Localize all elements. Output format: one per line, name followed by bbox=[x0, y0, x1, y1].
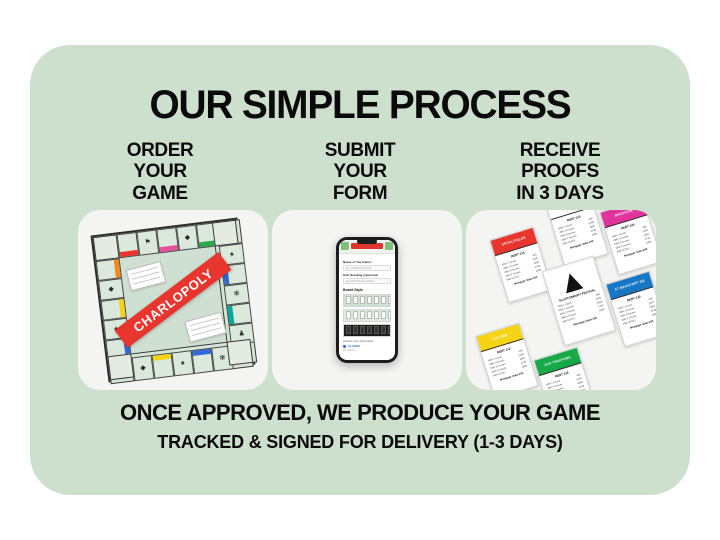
game-name-input[interactable]: Eg. LINWOODOPOLY bbox=[343, 265, 391, 271]
sub-heading-input[interactable]: Eg. 30th Birthday Edition bbox=[343, 278, 391, 284]
board-style-option-3[interactable] bbox=[343, 324, 391, 337]
rent-value: £900 bbox=[580, 388, 586, 390]
board-corner-bl bbox=[107, 353, 134, 380]
rent-value: £900 bbox=[592, 232, 598, 236]
title-deed-collage: THE MALLRENT £10With 1 House£60With 2 Ho… bbox=[466, 210, 656, 390]
board-corner-tl bbox=[93, 234, 120, 261]
deed-name: SPITALFIELDS bbox=[501, 236, 526, 247]
decor-right-icon bbox=[385, 242, 393, 250]
property-colour-strip bbox=[153, 354, 171, 361]
board-space-icon: ◆ bbox=[108, 286, 114, 294]
title-deed-card: ST BEAUFORT SQRENT £16With 1 House£60Wit… bbox=[605, 271, 656, 348]
step-headings: ORDER YOUR GAME SUBMIT YOUR FORM RECEIVE… bbox=[30, 140, 690, 210]
rent-value: £900 bbox=[652, 312, 656, 316]
tent-icon bbox=[561, 270, 585, 293]
step-heading-receive: RECEIVE PROOFS IN 3 DAYS bbox=[465, 140, 655, 204]
footer-line-1: ONCE APPROVED, WE PRODUCE YOUR GAME bbox=[30, 400, 690, 426]
board-space-icon: ⚑ bbox=[144, 239, 151, 247]
board-style-heading: Board Style bbox=[343, 288, 391, 292]
style-radio-classic[interactable]: CLASSIC bbox=[343, 344, 391, 348]
title-deed-card: GLASTONBURY FESTIVALWith 1 House£60With … bbox=[542, 256, 616, 346]
step-heading-order: ORDER YOUR GAME bbox=[65, 140, 255, 204]
phone-screen: Name of the Game* Eg. LINWOODOPOLY Sub H… bbox=[339, 240, 395, 360]
property-colour-strip bbox=[159, 245, 177, 252]
property-colour-strip bbox=[120, 250, 138, 257]
radio-dot-icon bbox=[343, 345, 346, 348]
chance-card bbox=[126, 261, 166, 292]
footer-line-2: TRACKED & SIGNED FOR DELIVERY (1-3 DAYS) bbox=[30, 432, 690, 453]
board-style-option-1[interactable] bbox=[343, 294, 391, 307]
deed-name: ICELAND bbox=[492, 334, 508, 342]
deed-name: OLD TRAFFORD bbox=[544, 356, 571, 367]
page-title: OUR SIMPLE PROCESS bbox=[40, 85, 680, 125]
property-colour-strip bbox=[114, 259, 121, 277]
property-colour-strip bbox=[119, 299, 126, 317]
board-space-icon: ◆ bbox=[140, 364, 146, 372]
game-board: ◆♠⚑◆♠✻◆♠✻♟ CHARLOPOLY bbox=[91, 218, 256, 383]
title-deed-card: THE MALLRENT £10With 1 House£60With 2 Ho… bbox=[545, 210, 608, 267]
rent-value: £900 bbox=[536, 268, 542, 272]
green-panel: OUR SIMPLE PROCESS ORDER YOUR GAME SUBMI… bbox=[30, 45, 690, 495]
order-form: Name of the Game* Eg. LINWOODOPOLY Sub H… bbox=[339, 254, 395, 352]
board-space-icon: ♠ bbox=[181, 360, 186, 367]
deed-name: ST BEAUFORT SQ bbox=[615, 279, 646, 291]
board-space-icon: ◆ bbox=[184, 234, 190, 242]
title-deed-card: OLD TRAFFORDRENT £18With 1 House£60With … bbox=[533, 347, 596, 390]
phone-mockup: Name of the Game* Eg. LINWOODOPOLY Sub H… bbox=[336, 237, 398, 363]
property-colour-strip bbox=[192, 349, 210, 356]
style-size-label: 40 x 40 cm bbox=[343, 349, 391, 352]
card-receive-proofs: THE MALLRENT £10With 1 House£60With 2 Ho… bbox=[466, 210, 656, 390]
deed-name: BRIGHTON bbox=[614, 210, 633, 218]
style-note: Choose your style below bbox=[343, 339, 391, 343]
title-deed-card: ICELANDRENT £12With 1 House£60With 2 Hou… bbox=[475, 323, 538, 390]
phone-notch bbox=[357, 239, 377, 244]
board-space-icon: ✻ bbox=[233, 290, 240, 298]
board-space-icon: ♟ bbox=[238, 330, 245, 338]
field-label-sub-heading: Sub Heading (optional) bbox=[343, 273, 391, 277]
rent-value: £900 bbox=[646, 240, 652, 244]
card-order-your-game: ◆♠⚑◆♠✻◆♠✻♟ CHARLOPOLY bbox=[78, 210, 268, 390]
board-corner-tr bbox=[212, 220, 239, 247]
field-label-game-name: Name of the Game* bbox=[343, 260, 391, 264]
card-submit-your-form: Name of the Game* Eg. LINWOODOPOLY Sub H… bbox=[272, 210, 462, 390]
monopoly-board-image: ◆♠⚑◆♠✻◆♠✻♟ CHARLOPOLY bbox=[91, 218, 256, 383]
rent-value: £900 bbox=[522, 364, 528, 368]
title-deed-card: SPITALFIELDSRENT £14With 1 House£60With … bbox=[489, 227, 552, 304]
footer-text: ONCE APPROVED, WE PRODUCE YOUR GAME TRAC… bbox=[30, 400, 690, 453]
board-corner-br bbox=[226, 339, 253, 366]
community-chest-card bbox=[184, 312, 226, 343]
title-deed-card: BRIGHTONRENT £20With 1 House£60With 2 Ho… bbox=[599, 210, 656, 275]
board-space-icon: ♠ bbox=[230, 251, 235, 258]
board-space-icon: ✻ bbox=[219, 355, 226, 363]
infographic-stage: OUR SIMPLE PROCESS ORDER YOUR GAME SUBMI… bbox=[0, 0, 720, 540]
step-heading-submit: SUBMIT YOUR FORM bbox=[265, 140, 455, 204]
property-colour-strip bbox=[227, 306, 234, 324]
decor-left-icon bbox=[341, 242, 349, 250]
board-style-option-2[interactable] bbox=[343, 309, 391, 322]
rent-value: £900 bbox=[599, 308, 605, 312]
